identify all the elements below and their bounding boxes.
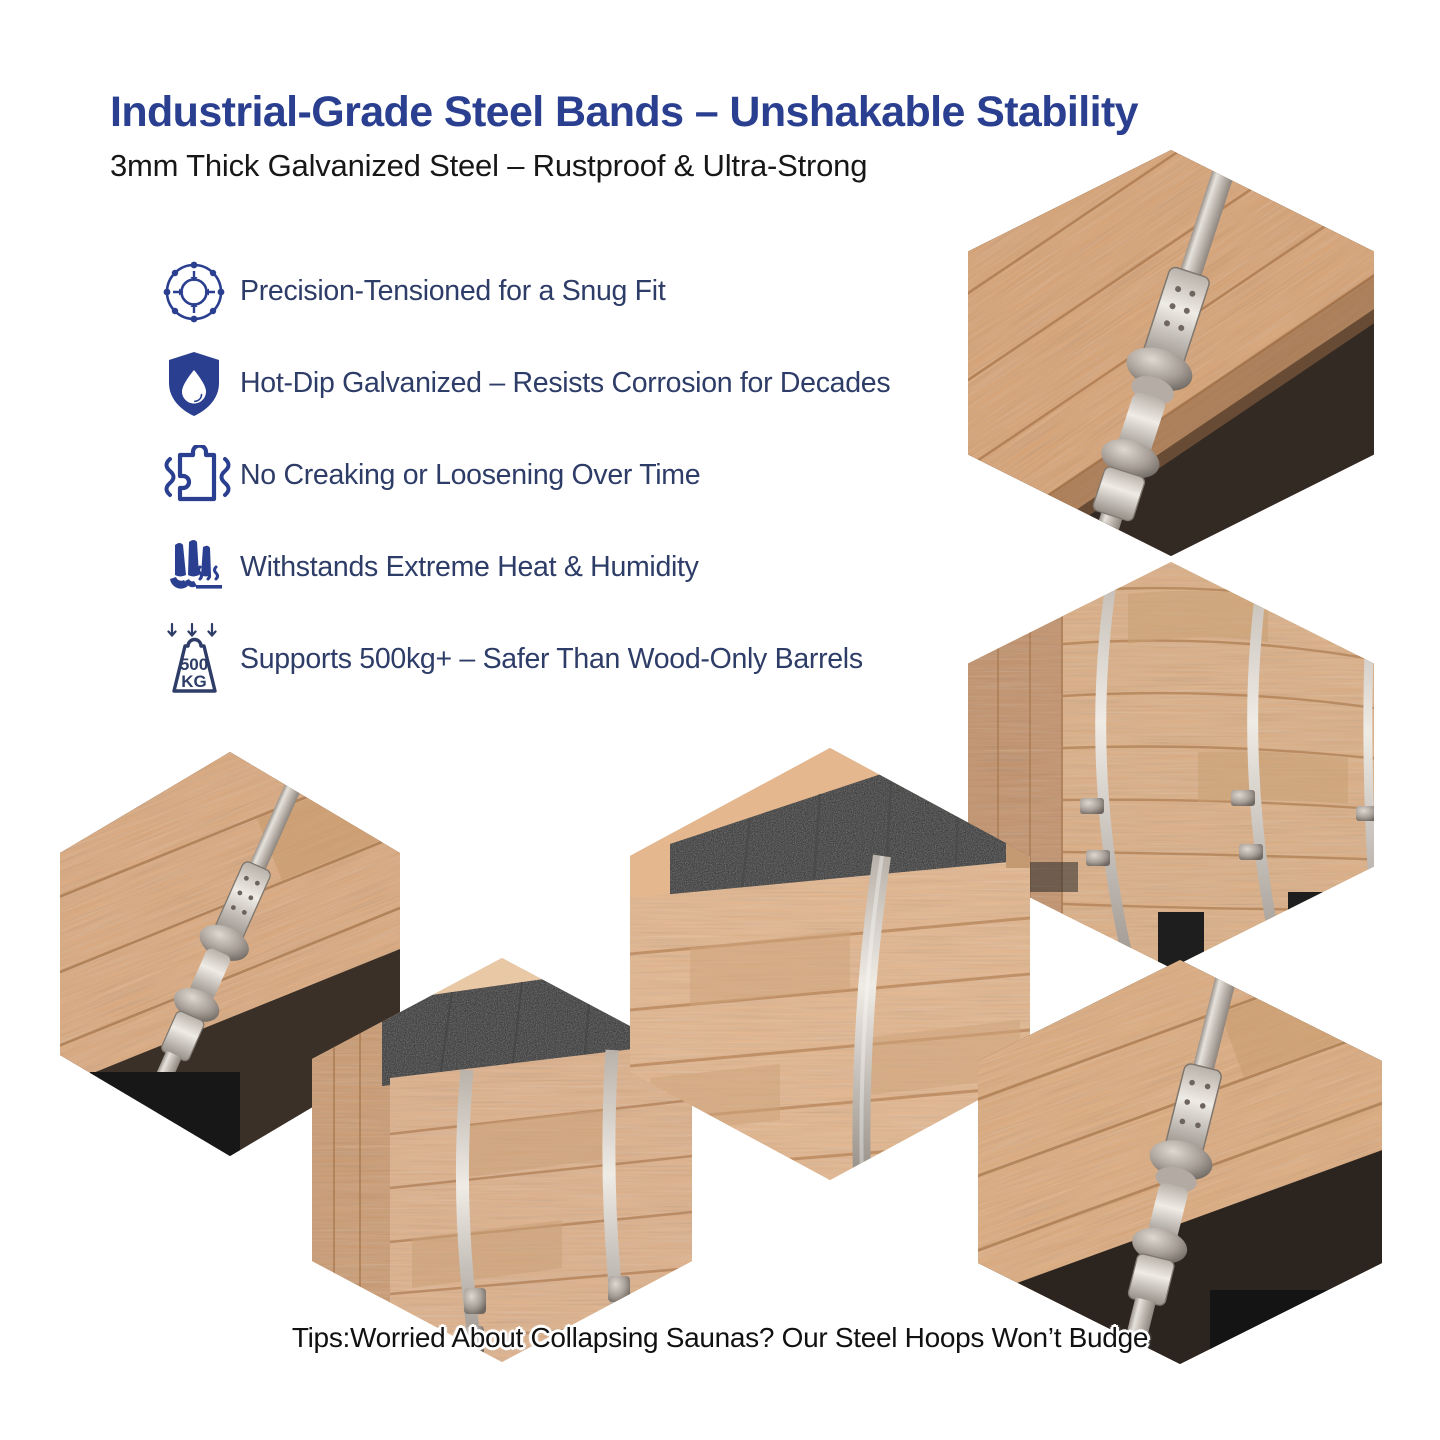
hex-photo-top-right <box>968 150 1374 556</box>
feature-label: Withstands Extreme Heat & Humidity <box>240 552 699 583</box>
hex-photo-bottom-right <box>978 960 1382 1364</box>
shield-water-drop-icon <box>148 351 240 417</box>
feature-item-load-capacity: 500 KG Supports 500kg+ – Safer Than Wood… <box>148 614 968 706</box>
feature-list: Precision-Tensioned for a Snug Fit Hot-D… <box>148 246 968 706</box>
precision-target-icon <box>148 259 240 325</box>
feature-label: Supports 500kg+ – Safer Than Wood-Only B… <box>240 644 863 675</box>
bottom-caption: Tips:Worried About Collapsing Saunas? Ou… <box>0 1322 1440 1354</box>
page-subtitle: 3mm Thick Galvanized Steel – Rustproof &… <box>110 148 867 184</box>
feature-item-no-creaking: No Creaking or Loosening Over Time <box>148 430 968 522</box>
feature-label: Hot-Dip Galvanized – Resists Corrosion f… <box>240 368 890 399</box>
weight-500kg-icon: 500 KG <box>148 620 240 700</box>
heat-humidity-icon <box>148 535 240 601</box>
feature-label: No Creaking or Loosening Over Time <box>240 460 700 491</box>
puzzle-no-creak-icon <box>148 445 240 507</box>
feature-item-heat-humidity: Withstands Extreme Heat & Humidity <box>148 522 968 614</box>
feature-label: Precision-Tensioned for a Snug Fit <box>240 276 665 307</box>
weight-icon-unit: KG <box>181 672 207 691</box>
feature-item-galvanized: Hot-Dip Galvanized – Resists Corrosion f… <box>148 338 968 430</box>
page-title: Industrial-Grade Steel Bands – Unshakabl… <box>110 88 1360 137</box>
feature-item-precision: Precision-Tensioned for a Snug Fit <box>148 246 968 338</box>
